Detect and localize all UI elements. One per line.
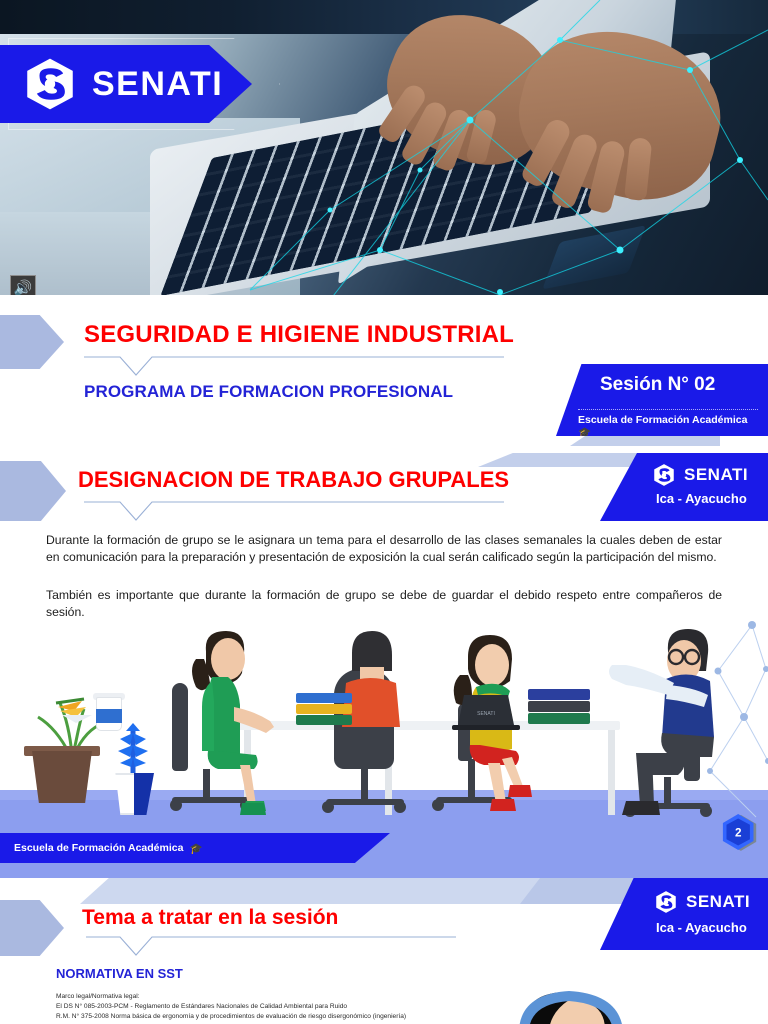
title-chevron-accent	[0, 461, 66, 521]
book	[528, 713, 590, 724]
person-woman-green	[178, 629, 288, 819]
senati-hexagon-s-logo	[652, 463, 676, 487]
legal-line-3: R.M. N° 375-2008 Norma básica de ergonom…	[56, 1012, 526, 1022]
page-number-badge: 2	[722, 812, 758, 852]
chair-wheel	[394, 801, 406, 813]
book	[296, 715, 352, 725]
graduation-cap-icon: 🎓	[189, 842, 202, 855]
senati-wordmark: SENATI	[686, 892, 750, 912]
chair-post	[361, 765, 368, 803]
body-paragraph-2: También es importante que durante la for…	[46, 587, 722, 622]
book	[296, 704, 352, 714]
session-label: Sesión N° 02	[600, 374, 715, 396]
page-number-text: 2	[735, 827, 742, 840]
laptop-touchpad	[542, 225, 646, 289]
slide-3-title: Tema a tratar en la sesión	[82, 906, 338, 930]
legal-line-1: Marco legal/Normativa legal:	[56, 992, 526, 1002]
school-label: Escuela de Formación Académica 🎓	[578, 409, 758, 439]
presentation-page: 🔊 SENATI SEGURIDAD E HIGIENE INDUSTRIAL …	[0, 0, 768, 1024]
plant-pot	[28, 751, 96, 803]
svg-text:SENATI: SENATI	[477, 711, 495, 717]
session-panel: Sesión N° 02 Escuela de Formación Académ…	[556, 364, 768, 436]
slide-2: DESIGNACION DE TRABAJO GRUPALES SENATI I…	[0, 453, 768, 878]
book	[296, 693, 352, 703]
title-divider	[84, 501, 504, 528]
chair-base	[326, 799, 404, 805]
book	[528, 689, 590, 700]
senati-hexagon-s-logo	[654, 890, 678, 914]
divider-with-notch	[84, 501, 504, 523]
section-title: NORMATIVA EN SST	[56, 966, 183, 981]
decorative-network-dots	[648, 621, 768, 821]
senati-wordmark: SENATI	[92, 65, 223, 104]
slide-1: 🔊 SENATI SEGURIDAD E HIGIENE INDUSTRIAL …	[0, 0, 768, 453]
divider-with-notch	[84, 356, 504, 378]
region-label: Ica - Ayacucho	[656, 491, 747, 506]
legal-framework-text: Marco legal/Normativa legal: El DS N° 08…	[56, 992, 526, 1022]
body-paragraph-1: Durante la formación de grupo se le asig…	[46, 532, 722, 567]
page-title: SEGURIDAD E HIGIENE INDUSTRIAL	[84, 322, 554, 348]
legal-line-2: El DS N° 085-2003-PCM - Reglamento de Es…	[56, 1002, 526, 1012]
coffee-cup-band	[96, 709, 122, 723]
title-divider	[84, 356, 504, 383]
worker-head-illustration	[505, 990, 655, 1024]
book	[528, 701, 590, 712]
chair-wheel	[322, 801, 334, 813]
laptop-open: SENATI	[450, 691, 522, 731]
senati-logo-banner: SENATI	[0, 45, 252, 123]
title-chevron-accent	[0, 900, 64, 956]
senati-wordmark: SENATI	[684, 465, 748, 485]
accent-wedge-left	[80, 878, 560, 904]
slide-2-footer: Escuela de Formación Académica 🎓	[0, 833, 390, 863]
page-subtitle: PROGRAMA DE FORMACION PROFESIONAL	[84, 382, 554, 402]
region-label: Ica - Ayacucho	[656, 920, 747, 935]
divider-with-notch	[86, 936, 456, 958]
school-label-text: Escuela de Formación Académica	[578, 414, 747, 426]
title-divider	[86, 936, 456, 963]
slide-2-title: DESIGNACION DE TRABAJO GRUPALES	[78, 467, 509, 493]
footer-label: Escuela de Formación Académica	[14, 842, 183, 854]
senati-hexagon-s-logo	[22, 56, 78, 112]
